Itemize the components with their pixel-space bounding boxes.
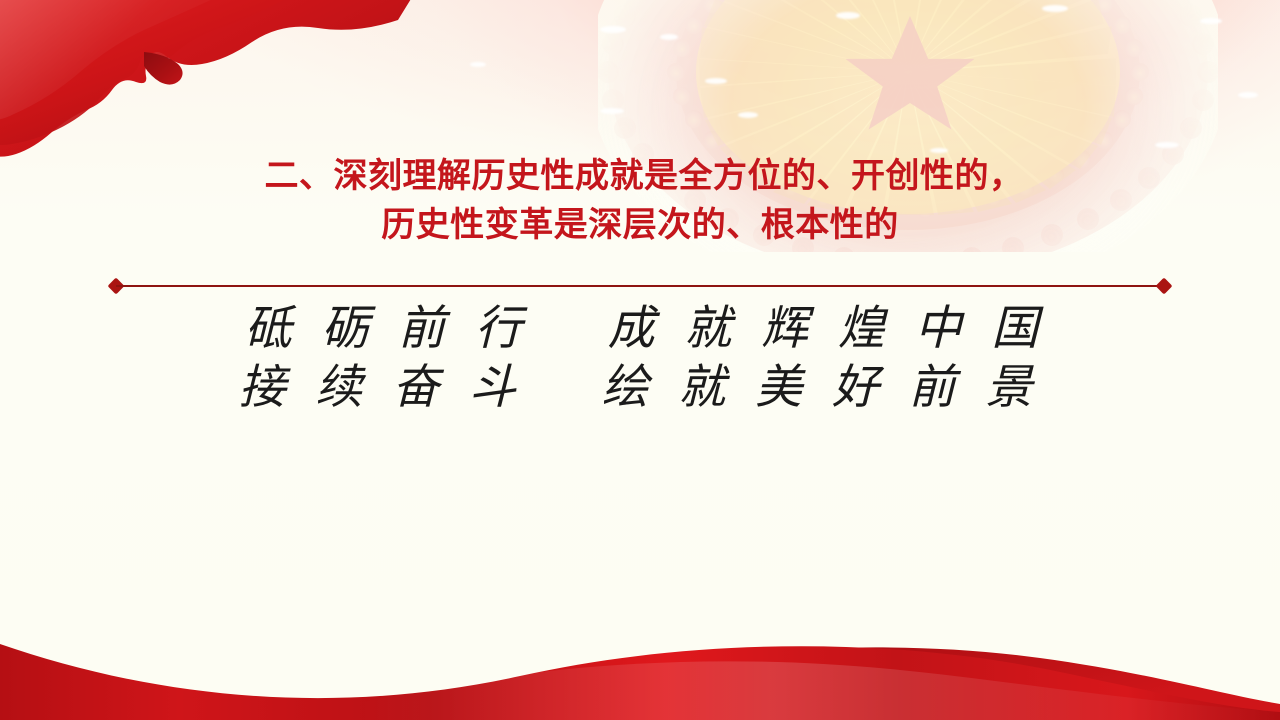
slide-canvas: 二、深刻理解历史性成就是全方位的、开创性的， 历史性变革是深层次的、根本性的 砥… bbox=[0, 0, 1280, 720]
bottom-wave-decoration bbox=[0, 600, 1280, 720]
calligraphy-block: 砥 砺 前 行 成 就 辉 煌 中 国 接 续 奋 斗 绘 就 美 好 前 景 bbox=[0, 300, 1280, 418]
section-title-line-1: 二、深刻理解历史性成就是全方位的、开创性的， bbox=[0, 152, 1280, 201]
calligraphy-line-1: 砥 砺 前 行 成 就 辉 煌 中 国 bbox=[0, 300, 1280, 359]
divider-rule bbox=[116, 285, 1164, 287]
title-divider bbox=[110, 278, 1170, 294]
section-title-line-2: 历史性变革是深层次的、根本性的 bbox=[0, 201, 1280, 250]
calligraphy-line-2: 接 续 奋 斗 绘 就 美 好 前 景 bbox=[0, 359, 1280, 418]
section-title: 二、深刻理解历史性成就是全方位的、开创性的， 历史性变革是深层次的、根本性的 bbox=[0, 152, 1280, 250]
divider-diamond-right-icon bbox=[1156, 278, 1173, 295]
